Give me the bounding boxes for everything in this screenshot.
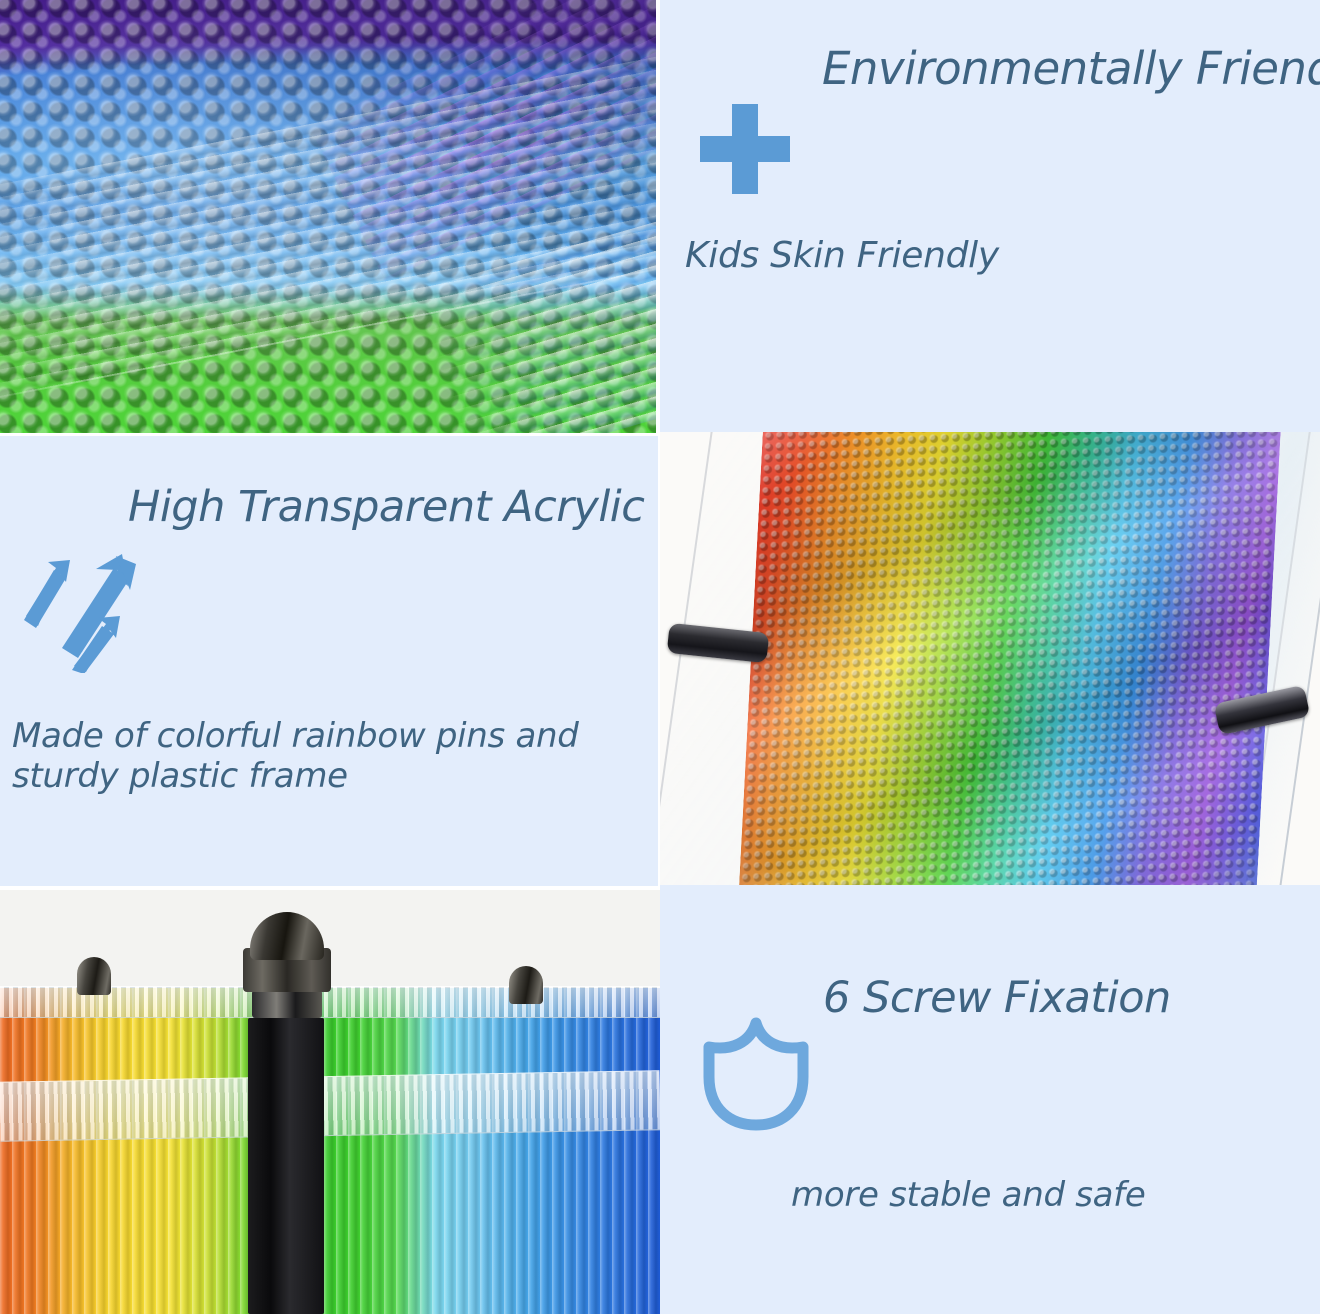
screw-dome-cap [250, 912, 324, 960]
panel-environmentally-friendly: Environmentally Friendly Kids Skin Frien… [660, 0, 1320, 432]
acrylic-headline: High Transparent Acrylic [128, 482, 644, 532]
screw-macro-photo [0, 890, 660, 1314]
three-arrows-up-icon [18, 548, 148, 677]
infographic-board: Environmentally Friendly Kids Skin Frien… [0, 0, 1320, 1314]
screw-collar [252, 990, 322, 1018]
screw-shaft [248, 1018, 324, 1314]
eco-headline: Environmentally Friendly [822, 42, 1320, 95]
acrylic-band-middle [0, 1070, 660, 1142]
background-screw-right [509, 966, 543, 1004]
product-angled-photo [660, 432, 1320, 885]
acrylic-subline-line1: Made of colorful rainbow pins and [12, 716, 579, 756]
screw-fixation-headline: 6 Screw Fixation [823, 973, 1171, 1023]
plus-icon [690, 100, 800, 210]
pin-wave-shading [737, 432, 1283, 885]
shield-icon [697, 1013, 815, 1137]
eco-subline: Kids Skin Friendly [685, 235, 999, 276]
pin-column-stripes [0, 988, 660, 1314]
background-screw-left [77, 957, 111, 995]
photo-shading-overlay [0, 0, 656, 433]
screw-fixation-subline: more stable and safe [791, 1175, 1145, 1215]
acrylic-band-ridges-2 [0, 1071, 660, 1141]
acrylic-subline: Made of colorful rainbow pins and sturdy… [12, 716, 579, 796]
pins-macro-photo [0, 0, 656, 433]
acrylic-subline-line2: sturdy plastic frame [12, 756, 348, 796]
panel-screw-fixation: 6 Screw Fixation more stable and safe [660, 885, 1320, 1314]
panel-high-transparent-acrylic: High Transparent Acrylic Made of colorfu… [0, 436, 658, 886]
